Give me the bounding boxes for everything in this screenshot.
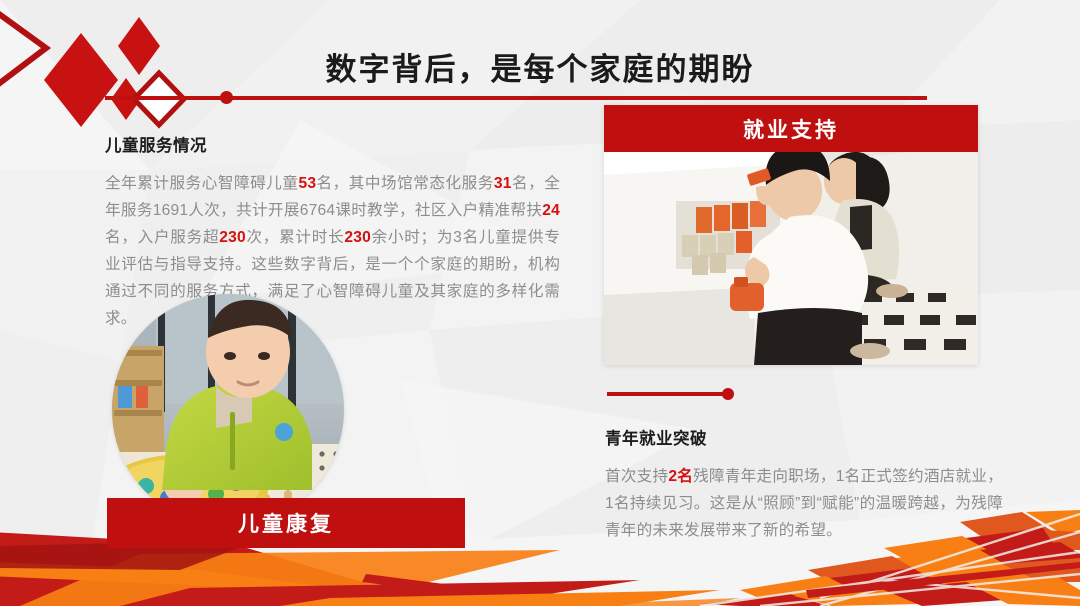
text-seg: 首次支持 [605, 468, 668, 485]
text-seg: 全年累计服务心智障碍儿童 [105, 175, 298, 192]
page-title: 数字背后，是每个家庭的期盼 [0, 44, 1080, 89]
highlight-number: 230 [344, 229, 371, 246]
text-seg: 次，累计时长 [246, 229, 344, 246]
text-seg: 名，其中场馆常态化服务 [316, 175, 494, 192]
highlight-number: 53 [298, 175, 316, 192]
youth-employment-heading: 青年就业突破 [605, 425, 1003, 449]
section-divider-dot [722, 388, 734, 400]
title-underline-dot [220, 91, 233, 104]
highlight-number: 31 [494, 175, 512, 192]
text-seg: 名，入户服务超 [105, 229, 219, 246]
child-rehab-photo [112, 294, 344, 526]
child-rehab-caption-banner: 儿童康复 [107, 498, 465, 548]
highlight-number: 230 [219, 229, 246, 246]
youth-employment-paragraph: 首次支持2名残障青年走向职场，1名正式签约酒店就业，1名持续见习。这是从“照顾”… [605, 463, 1003, 544]
employment-support-caption-text: 就业支持 [743, 114, 839, 144]
youth-employment-block: 青年就业突破 首次支持2名残障青年走向职场，1名正式签约酒店就业，1名持续见习。… [605, 425, 1003, 544]
employment-support-caption-banner: 就业支持 [604, 105, 978, 152]
children-service-heading: 儿童服务情况 [105, 132, 560, 156]
slide-canvas: 数字背后，是每个家庭的期盼 儿童服务情况 全年累计服务心智障碍儿童53名，其中场… [0, 0, 1080, 606]
section-divider-rule [607, 392, 727, 396]
child-rehab-caption-text: 儿童康复 [238, 508, 334, 538]
highlight-number: 24 [542, 202, 560, 219]
children-service-block: 儿童服务情况 全年累计服务心智障碍儿童53名，其中场馆常态化服务31名，全年服务… [105, 132, 560, 332]
highlight-number: 2名 [668, 468, 693, 485]
